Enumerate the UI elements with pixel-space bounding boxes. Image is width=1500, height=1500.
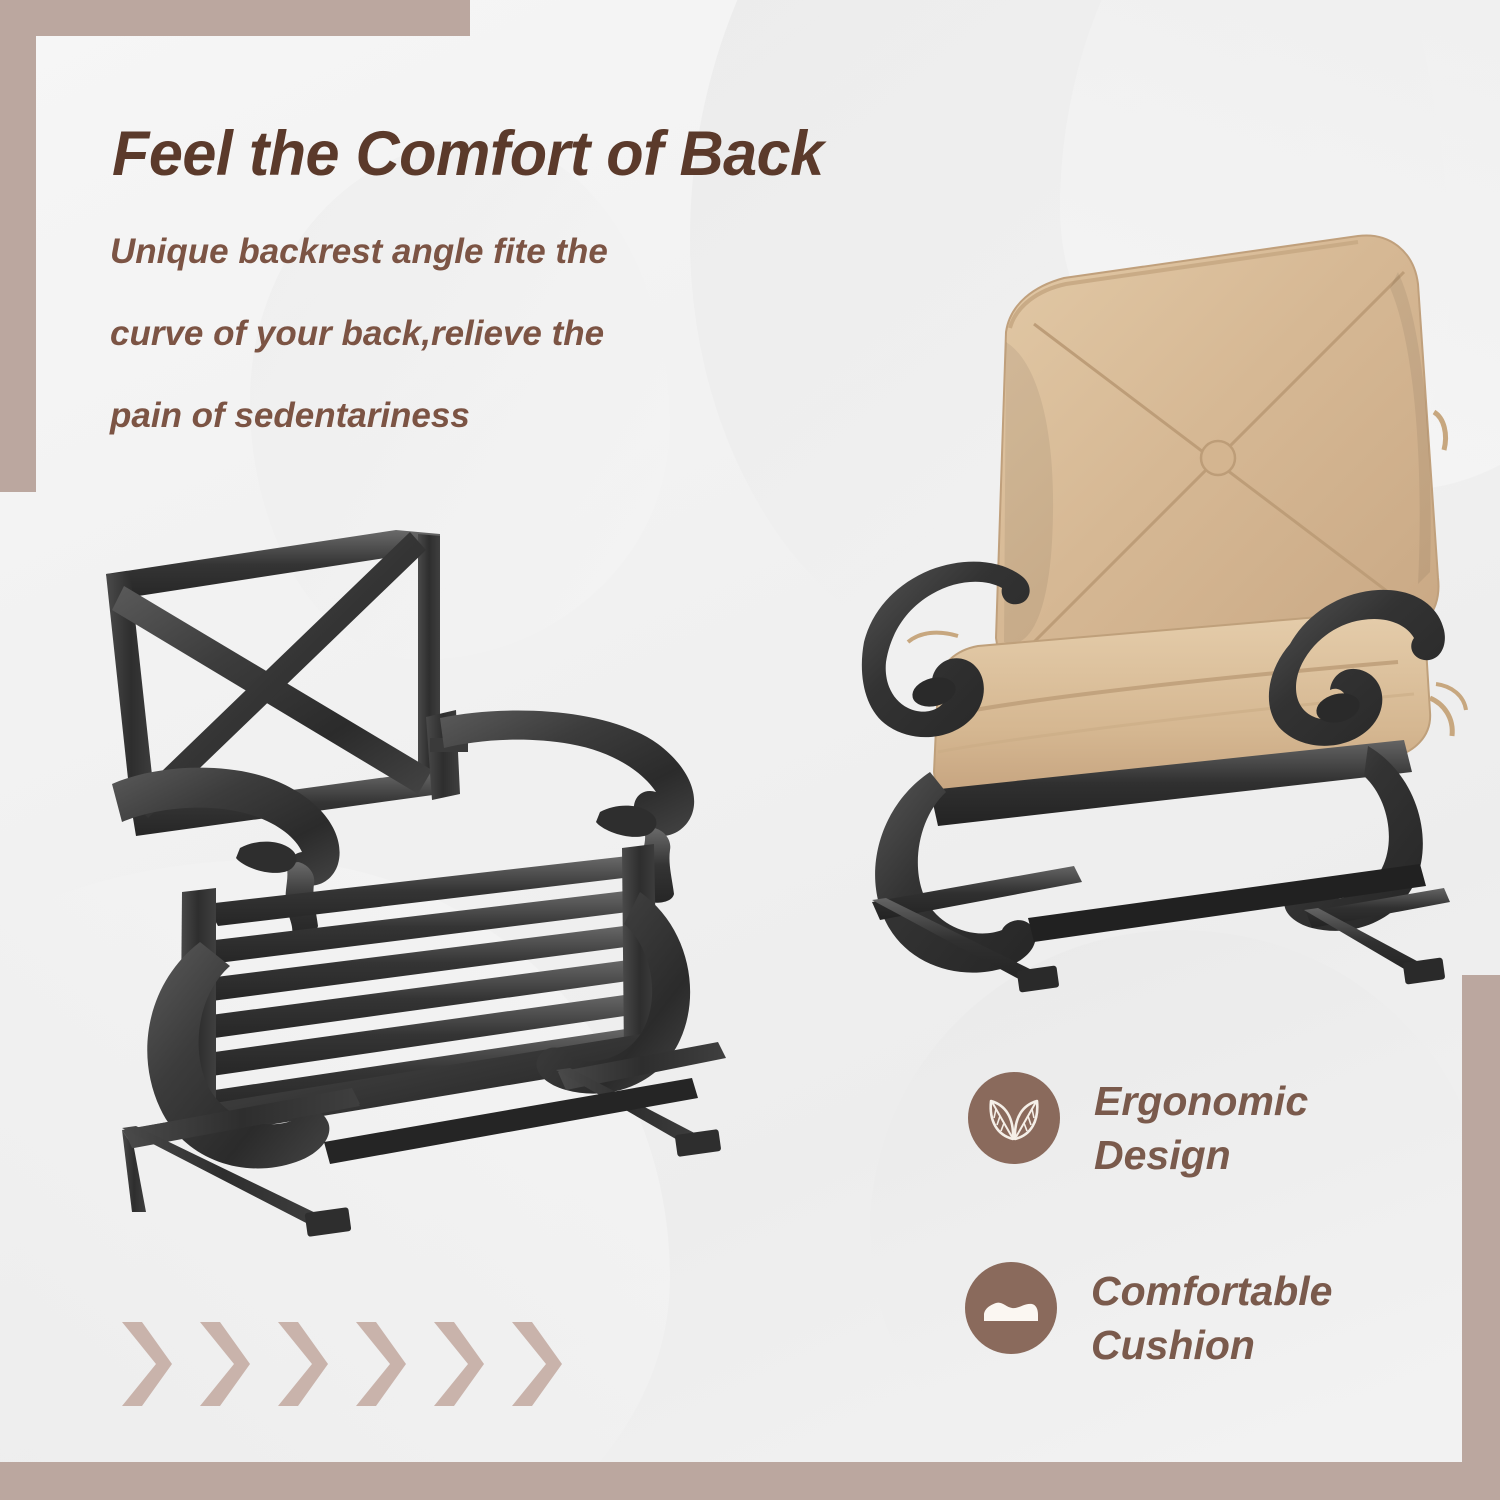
chevron-right-icon bbox=[430, 1318, 486, 1410]
leaf-icon bbox=[983, 1087, 1045, 1149]
feature-badge-ergonomic-design: Ergonomic Design bbox=[968, 1072, 1308, 1182]
product-image-chair-with-cushions bbox=[838, 212, 1478, 1032]
description-line: Unique backrest angle fite the bbox=[110, 234, 850, 269]
feature-label: Ergonomic Design bbox=[1094, 1072, 1308, 1182]
description-block: Unique backrest angle fite the curve of … bbox=[110, 234, 850, 480]
chevron-right-icon bbox=[118, 1318, 174, 1410]
corner-frame-bottom bbox=[0, 1462, 1500, 1500]
description-line: pain of sedentariness bbox=[110, 398, 850, 433]
feature-label-line2: Design bbox=[1094, 1128, 1308, 1182]
infographic-canvas: Feel the Comfort of Back Unique backrest… bbox=[0, 0, 1500, 1500]
badge-circle bbox=[968, 1072, 1060, 1164]
page-title: Feel the Comfort of Back bbox=[112, 118, 824, 190]
feature-badge-comfortable-cushion: Comfortable Cushion bbox=[965, 1262, 1332, 1372]
chevron-right-icon bbox=[508, 1318, 564, 1410]
badge-circle bbox=[965, 1262, 1057, 1354]
feature-label-line1: Ergonomic bbox=[1094, 1074, 1308, 1128]
chevron-right-icon bbox=[274, 1318, 330, 1410]
product-image-chair-frame bbox=[88, 512, 748, 1272]
feature-label-line2: Cushion bbox=[1091, 1318, 1332, 1372]
feature-label: Comfortable Cushion bbox=[1091, 1262, 1332, 1372]
description-line: curve of your back,relieve the bbox=[110, 316, 850, 351]
chevron-right-icon bbox=[196, 1318, 252, 1410]
corner-frame-left bbox=[0, 0, 36, 492]
chevron-right-icon bbox=[352, 1318, 408, 1410]
feature-label-line1: Comfortable bbox=[1091, 1264, 1332, 1318]
corner-frame-top bbox=[0, 0, 470, 36]
cushion-icon bbox=[978, 1275, 1044, 1341]
chevron-arrow-row bbox=[118, 1318, 564, 1410]
corner-frame-right bbox=[1462, 975, 1500, 1465]
